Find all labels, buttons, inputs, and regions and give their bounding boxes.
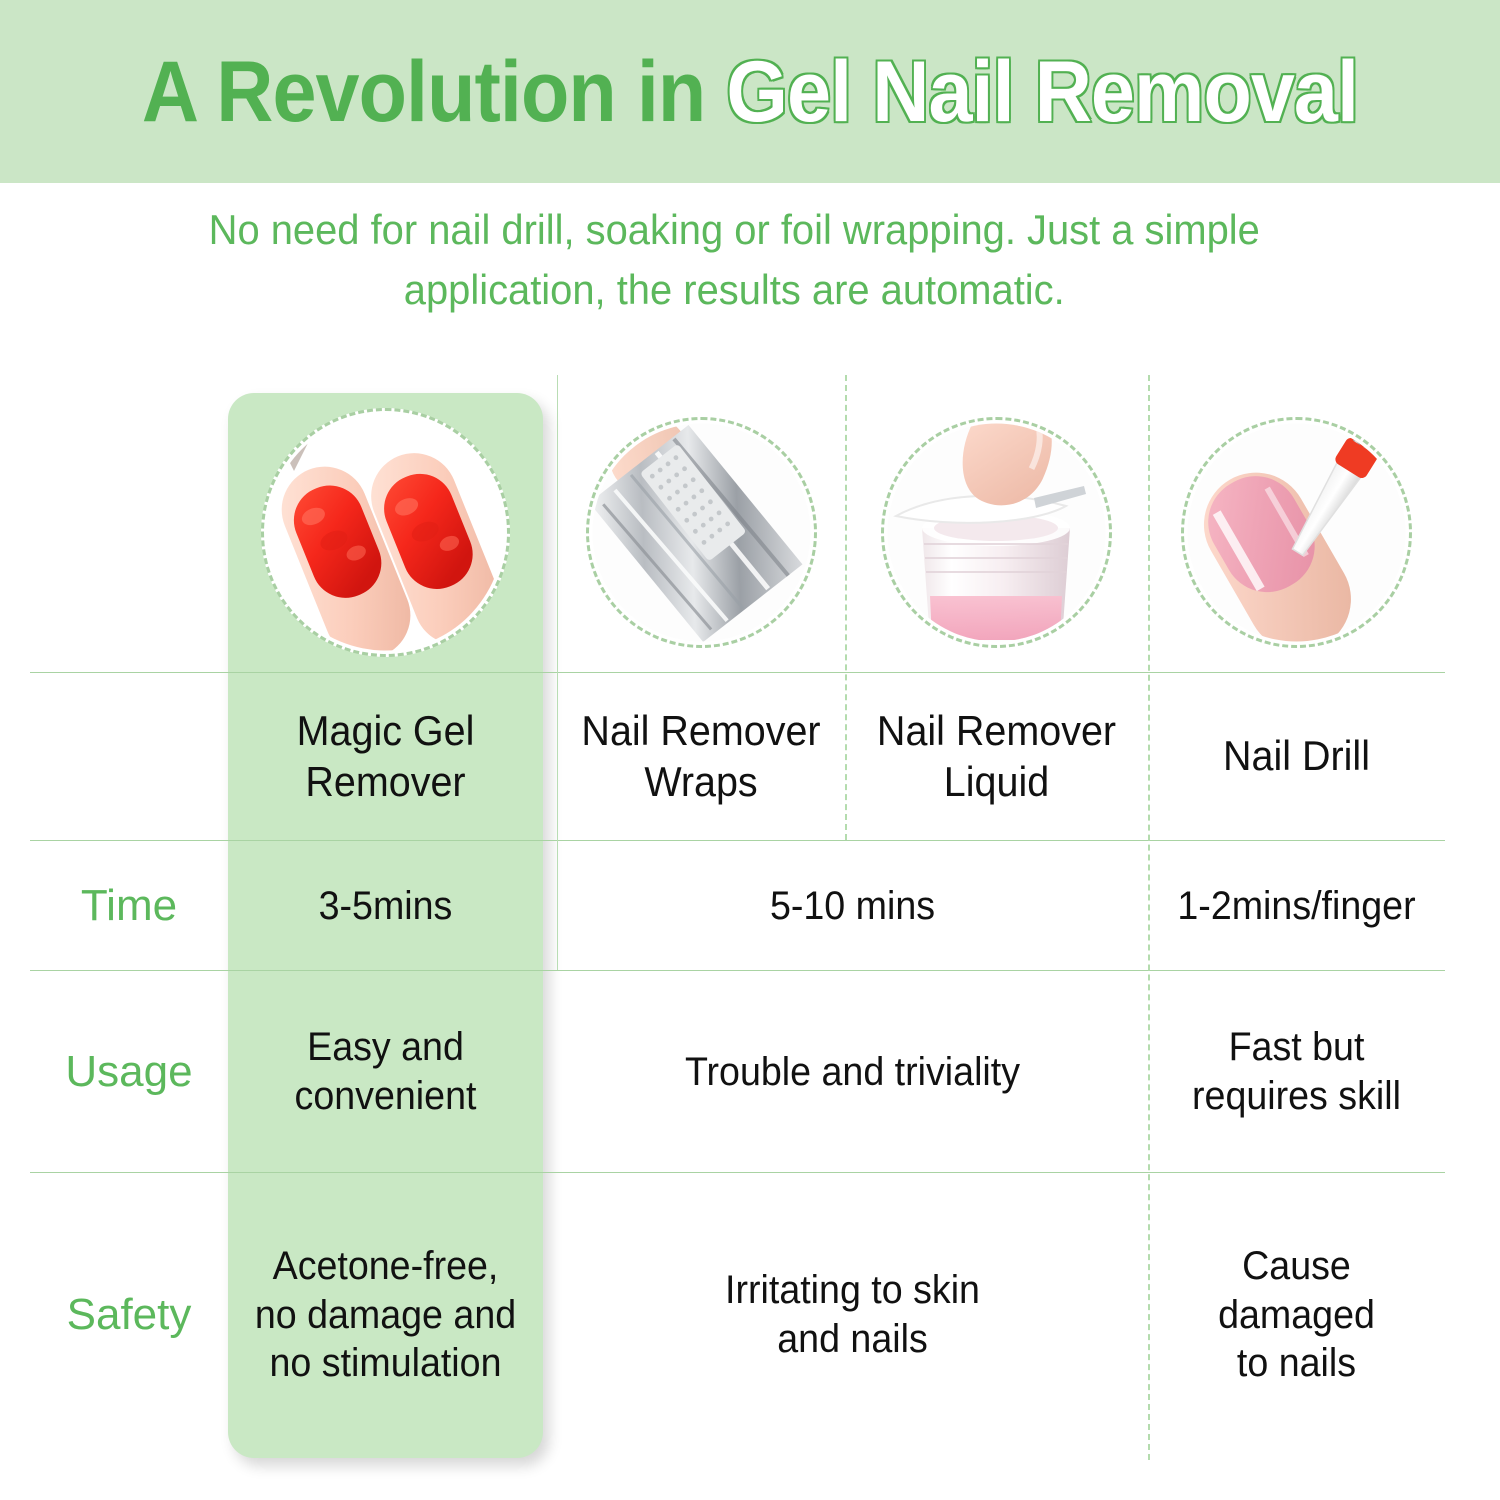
foil-wrap-icon: [586, 417, 817, 648]
table-divider-row2-bottom: [30, 1172, 1445, 1173]
column-header-nail-remover-wraps: Nail Remover Wraps: [566, 675, 837, 837]
product-image-nail-drill: [1148, 395, 1445, 670]
title-outline-part: Gel Nail Removal: [726, 44, 1358, 140]
row-label-safety: Safety: [30, 1175, 228, 1455]
cell-time-nail-drill: 1-2mins/finger: [1157, 843, 1436, 969]
column-header-nail-drill: Nail Drill: [1157, 675, 1436, 837]
remover-liquid-jar-icon: [881, 417, 1112, 648]
red-gel-on-nails-icon: [261, 408, 510, 657]
column-header-magic-gel-remover: Magic Gel Remover: [237, 675, 533, 837]
table-divider-header: [30, 672, 1445, 673]
comparison-table: Magic Gel Remover Nail Remover Wraps Nai…: [30, 375, 1445, 1460]
nail-drill-bit-icon: [1181, 417, 1412, 648]
column-header-nail-remover-liquid: Nail Remover Liquid: [854, 675, 1139, 837]
table-divider-row1-bottom: [30, 970, 1445, 971]
product-image-magic-gel-remover: [228, 395, 543, 670]
cell-time-wraps-and-liquid: 5-10 mins: [575, 843, 1131, 969]
cell-usage-wraps-and-liquid: Trouble and triviality: [575, 973, 1131, 1171]
title-green-part: A Revolution in: [142, 44, 727, 140]
cell-time-magic-gel-remover: 3-5mins: [237, 843, 533, 969]
cell-usage-nail-drill: Fast but requires skill: [1157, 973, 1436, 1171]
table-divider-row1-top: [30, 840, 1445, 841]
cell-safety-magic-gel-remover: Acetone-free, no damage and no stimulati…: [237, 1175, 533, 1455]
subtitle: No need for nail drill, soaking or foil …: [150, 200, 1319, 319]
cell-safety-nail-drill: Cause damaged to nails: [1157, 1175, 1436, 1455]
header-banner: A Revolution in Gel Nail Removal: [0, 0, 1500, 183]
cell-safety-wraps-and-liquid: Irritating to skin and nails: [575, 1175, 1131, 1455]
cell-usage-magic-gel-remover: Easy and convenient: [237, 973, 533, 1171]
product-image-nail-remover-liquid: [845, 395, 1148, 670]
row-label-usage: Usage: [30, 973, 228, 1171]
row-label-time: Time: [30, 843, 228, 969]
product-image-nail-remover-wraps: [557, 395, 845, 670]
page-title: A Revolution in Gel Nail Removal: [142, 49, 1358, 135]
